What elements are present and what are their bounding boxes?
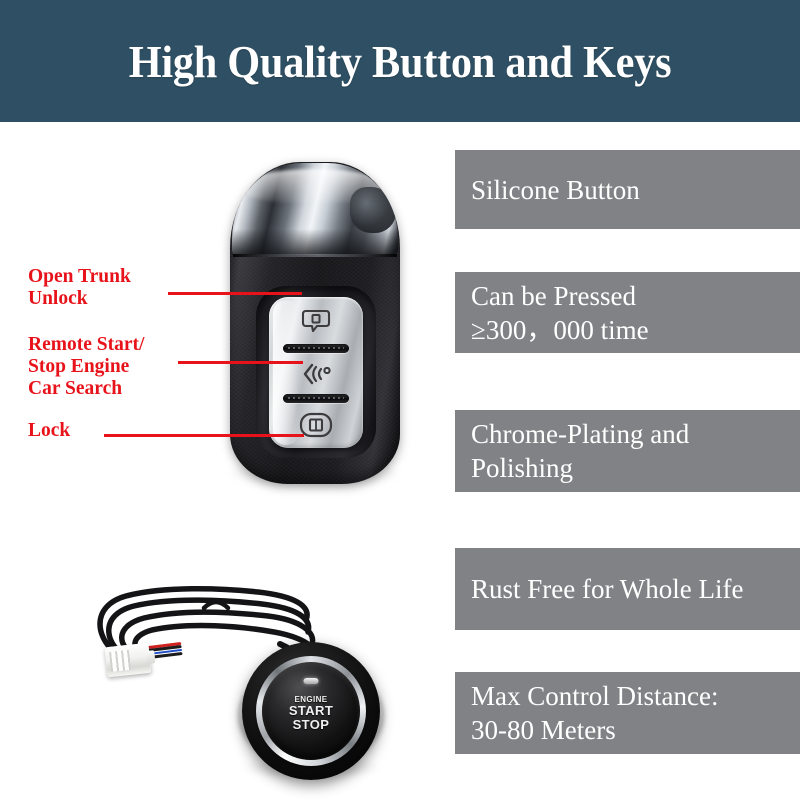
pad-divider-slot-top	[283, 344, 349, 353]
engine-start-stop-button[interactable]: ENGINE START STOP	[236, 636, 386, 786]
lock-button[interactable]	[269, 403, 363, 447]
feature-text-line: Polishing	[471, 451, 784, 485]
annotation-trunk-unlock: Open Trunk Unlock	[28, 266, 131, 310]
key-fob-image	[216, 158, 416, 498]
connector-latch	[146, 650, 155, 664]
feature-text-line: Max Control Distance:	[471, 679, 784, 713]
leader-line-remote-start	[178, 361, 303, 364]
feature-box-rust-free: Rust Free for Whole Life	[455, 548, 800, 630]
signal-waves-icon	[299, 360, 333, 388]
feature-text-line: Can be Pressed	[471, 279, 784, 313]
annotation-line: Stop Engine	[28, 356, 144, 378]
annotation-lock: Lock	[28, 420, 70, 442]
feature-list: Silicone Button Can be Pressed ≥300，000 …	[455, 0, 800, 800]
annotation-line: Remote Start/	[28, 334, 144, 356]
feature-text-line: ≥300，000 time	[471, 313, 784, 347]
feature-text-line: Rust Free for Whole Life	[471, 572, 784, 606]
indicator-led	[304, 678, 319, 684]
start-button-label: ENGINE START STOP	[262, 696, 360, 732]
engine-start-button-image: ENGINE START STOP	[44, 548, 384, 788]
connector-pins	[109, 650, 131, 672]
annotation-line: Car Search	[28, 378, 144, 400]
feature-box-silicone-button: Silicone Button	[455, 150, 800, 229]
chrome-reflection	[350, 187, 396, 233]
feature-box-press-count: Can be Pressed ≥300，000 time	[455, 272, 800, 353]
infographic-page: High Quality Button and Keys	[0, 0, 800, 800]
annotation-line: Lock	[28, 420, 70, 442]
label-line-start: START	[262, 704, 360, 718]
feature-text-line: Silicone Button	[471, 173, 784, 207]
fob-button-pad	[269, 297, 363, 448]
label-line-stop: STOP	[262, 718, 360, 732]
leader-line-lock	[104, 434, 304, 437]
feature-box-chrome-plating: Chrome-Plating and Polishing	[455, 410, 800, 492]
jst-connector	[105, 643, 152, 677]
fob-seam-line	[233, 254, 397, 257]
fob-chrome-cap	[232, 163, 398, 255]
pad-divider-slot-bottom	[283, 394, 349, 403]
annotation-line: Open Trunk	[28, 266, 131, 288]
trunk-unlock-button[interactable]	[269, 301, 363, 345]
start-button-face[interactable]: ENGINE START STOP	[262, 662, 360, 760]
annotation-line: Unlock	[28, 288, 131, 310]
leader-line-trunk	[168, 292, 302, 295]
annotation-remote-start: Remote Start/ Stop Engine Car Search	[28, 334, 144, 400]
feature-text-line: Chrome-Plating and	[471, 417, 784, 451]
feature-text-line: 30-80 Meters	[471, 713, 784, 747]
remote-start-button[interactable]	[269, 353, 363, 395]
trunk-open-icon	[300, 308, 332, 338]
feature-box-control-distance: Max Control Distance: 30-80 Meters	[455, 672, 800, 754]
